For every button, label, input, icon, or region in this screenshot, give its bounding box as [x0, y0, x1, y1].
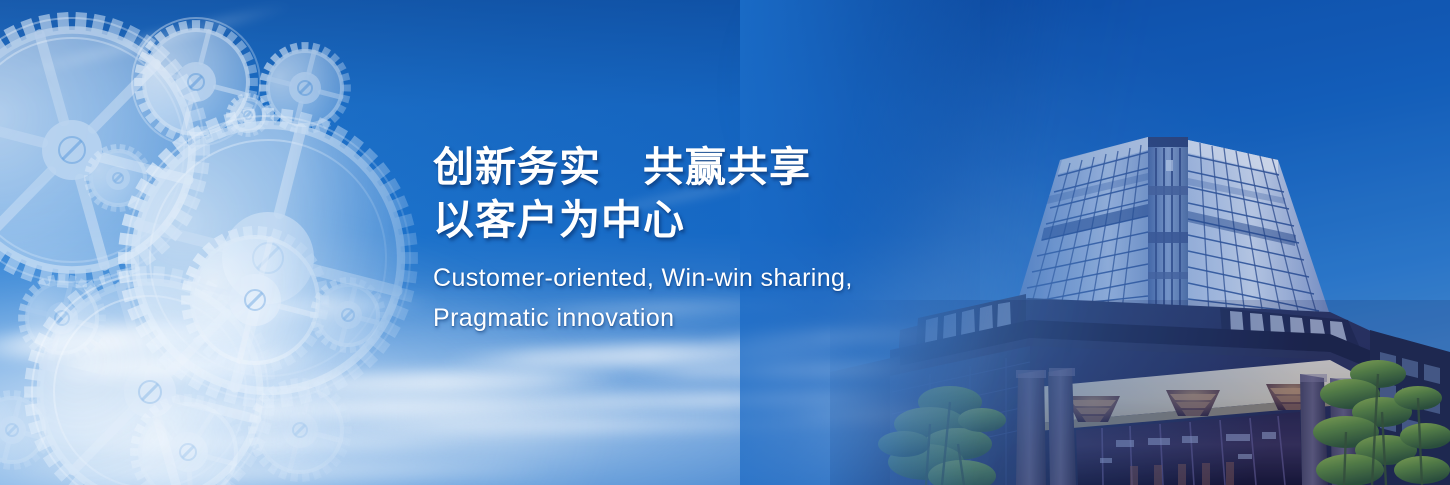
subheadline: Customer-oriented, Win-win sharing, Prag… — [433, 258, 953, 338]
subheadline-line-2: Pragmatic innovation — [433, 298, 953, 338]
headline-line-2: 以客户为中心 — [433, 194, 953, 247]
subheadline-line-1: Customer-oriented, Win-win sharing, — [433, 258, 953, 298]
gear-shape — [84, 144, 152, 212]
hero-banner: 创新务实 共赢共享 以客户为中心 Customer-oriented, Win-… — [0, 0, 1450, 485]
gear-shape — [181, 226, 329, 374]
banner-copy: 创新务实 共赢共享 以客户为中心 Customer-oriented, Win-… — [433, 141, 953, 338]
gear-shape — [226, 93, 270, 137]
gear-shape — [18, 274, 106, 362]
gear-shape — [248, 378, 352, 482]
headline-line-1: 创新务实 共赢共享 — [433, 141, 953, 194]
gear-shape — [310, 277, 386, 353]
